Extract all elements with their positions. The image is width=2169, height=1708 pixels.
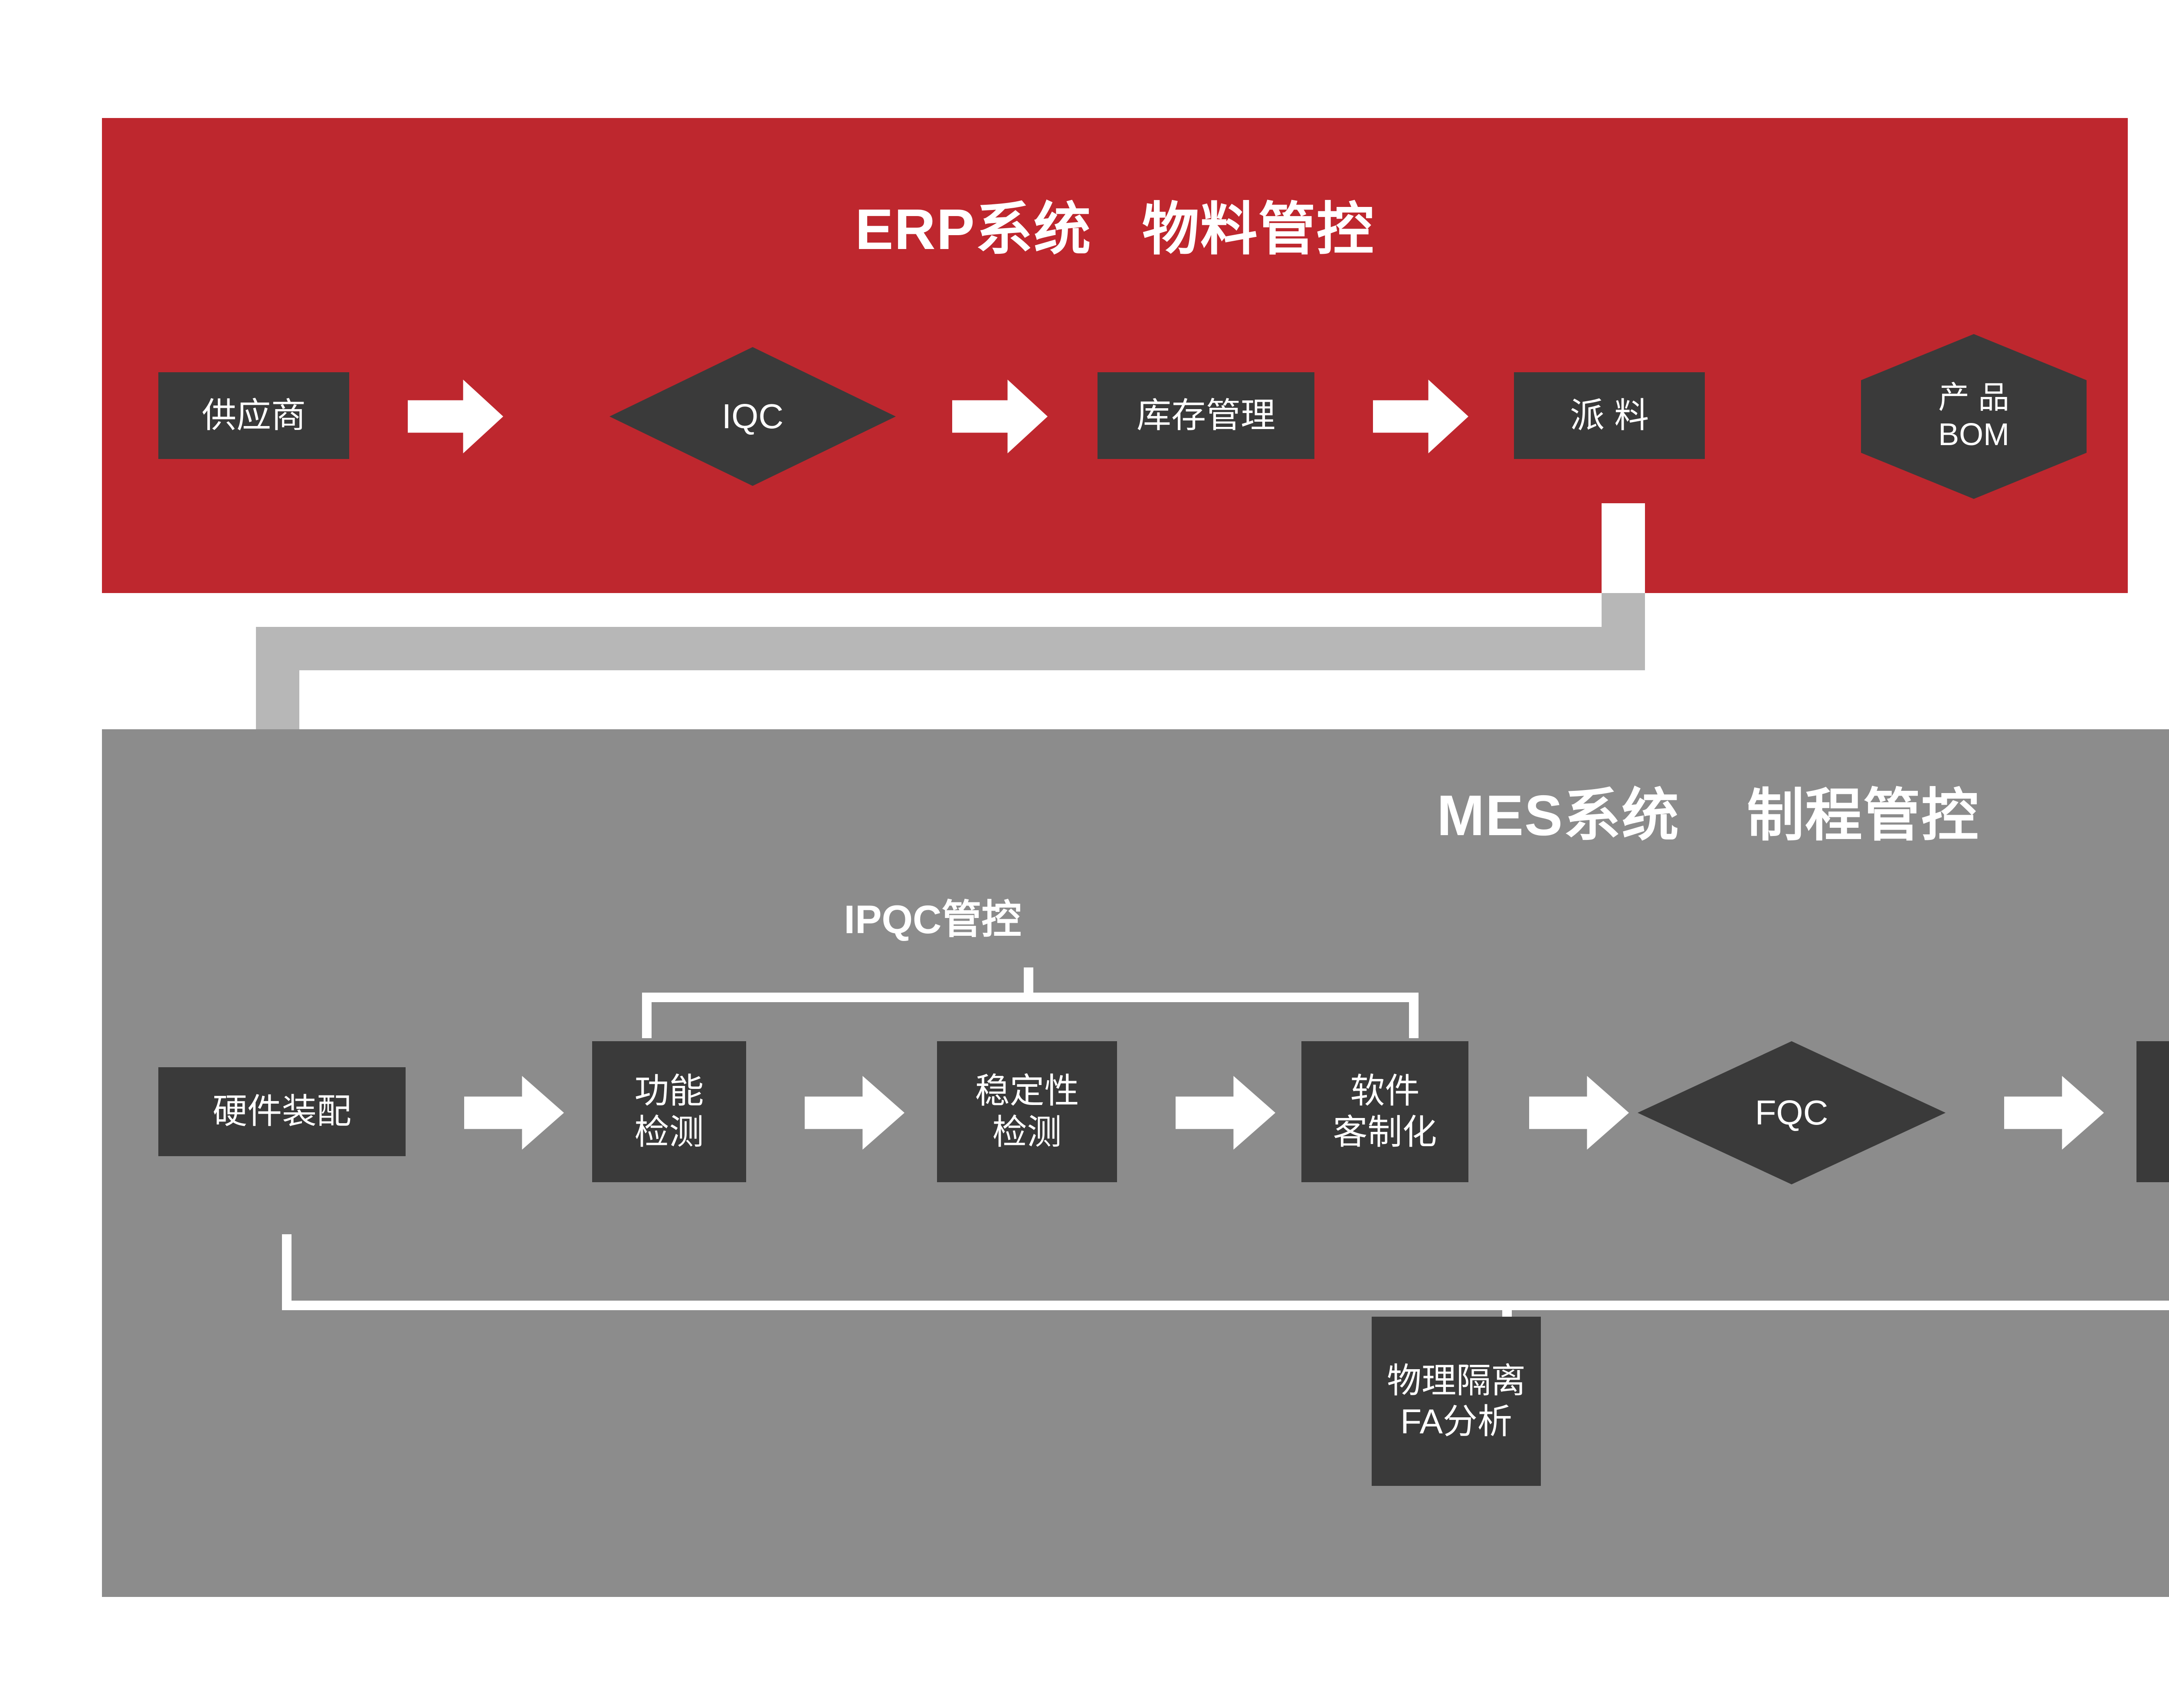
node-product-bom[interactable]: 产 品 BOM: [1861, 334, 2087, 499]
node-stability-test-label: 稳定性 检测: [975, 1071, 1079, 1153]
node-software-customization[interactable]: 软件 客制化: [1301, 1041, 1468, 1182]
node-appearance-customization[interactable]: 外观 客制化: [2136, 1041, 2169, 1182]
node-product-bom-label: 产 品 BOM: [1938, 380, 2009, 453]
node-supplier-label: 供应商: [202, 395, 306, 436]
node-function-test[interactable]: 功能 检测: [592, 1041, 746, 1182]
ipqc-bracket-left-tick: [642, 993, 652, 1038]
node-iqc[interactable]: IQC: [609, 347, 896, 486]
connector-stub-white: [1602, 503, 1645, 594]
node-dispatch[interactable]: 派 料: [1514, 372, 1705, 459]
node-supplier[interactable]: 供应商: [158, 372, 349, 459]
fa-bracket-left-tick: [282, 1234, 292, 1310]
node-hardware-assembly-label: 硬件装配: [213, 1091, 351, 1132]
ipqc-bracket-top: [642, 993, 1419, 1002]
node-fqc-label: FQC: [1755, 1092, 1828, 1133]
node-stability-test[interactable]: 稳定性 检测: [937, 1041, 1117, 1182]
ipqc-bracket-label: IPQC管控: [803, 887, 1063, 945]
node-fa-analysis-label: 物理隔离 FA分析: [1387, 1360, 1526, 1442]
fa-bracket-bottom: [282, 1301, 2169, 1310]
node-inventory-label: 库存管理: [1137, 395, 1275, 436]
fa-bracket: [282, 1234, 2169, 1395]
node-hardware-assembly[interactable]: 硬件装配: [158, 1067, 406, 1156]
ipqc-bracket-right-tick: [1409, 993, 1419, 1038]
erp-panel: ERP系统 物料管控: [102, 118, 2128, 593]
node-dispatch-label: 派 料: [1570, 395, 1649, 436]
mes-panel-title: MES系统 制程管控: [102, 769, 2169, 852]
node-inventory[interactable]: 库存管理: [1098, 372, 1314, 459]
node-software-customization-label: 软件 客制化: [1333, 1071, 1437, 1153]
node-iqc-label: IQC: [722, 396, 783, 437]
erp-panel-title: ERP系统 物料管控: [102, 183, 2128, 266]
ipqc-bracket-stem: [1024, 967, 1033, 993]
node-fa-analysis[interactable]: 物理隔离 FA分析: [1372, 1317, 1541, 1486]
ipqc-bracket: [642, 967, 1419, 1020]
connector-horizontal: [256, 627, 1645, 670]
connector-vertical-left: [256, 627, 299, 731]
diagram-canvas: ERP系统 物料管控 供应商 IQC 库存管理 派 料 产 品 BOM E-SO…: [0, 0, 2169, 1708]
node-function-test-label: 功能 检测: [635, 1071, 704, 1153]
node-fqc[interactable]: FQC: [1638, 1041, 1946, 1184]
